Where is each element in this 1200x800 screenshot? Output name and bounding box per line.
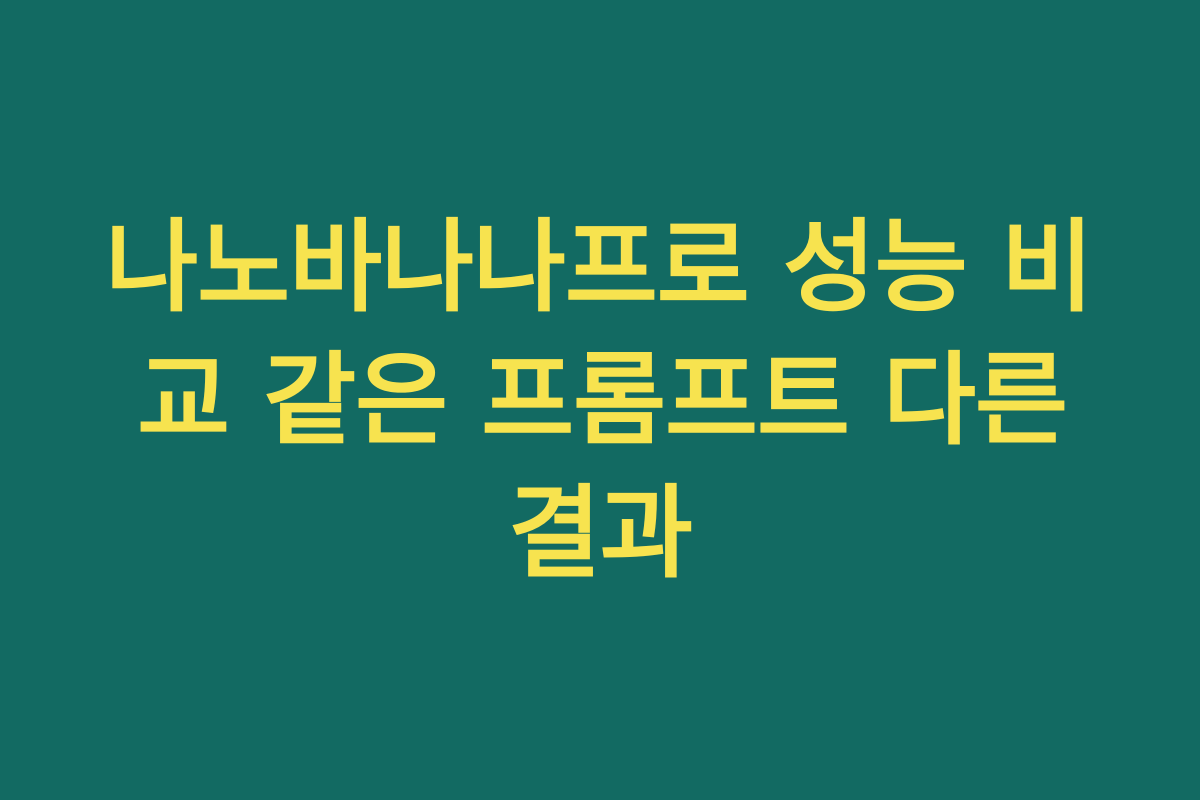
title-line-1: 나노바나나프로 성능 비 bbox=[105, 201, 1093, 334]
title-block: 나노바나나프로 성능 비 교 같은 프롬프트 다른 결과 bbox=[95, 201, 1105, 600]
title-line-3: 결과 bbox=[508, 467, 692, 600]
thumbnail-canvas: 나노바나나프로 성능 비 교 같은 프롬프트 다른 결과 bbox=[0, 0, 1200, 800]
title-line-2: 교 같은 프롬프트 다른 bbox=[137, 334, 1067, 467]
